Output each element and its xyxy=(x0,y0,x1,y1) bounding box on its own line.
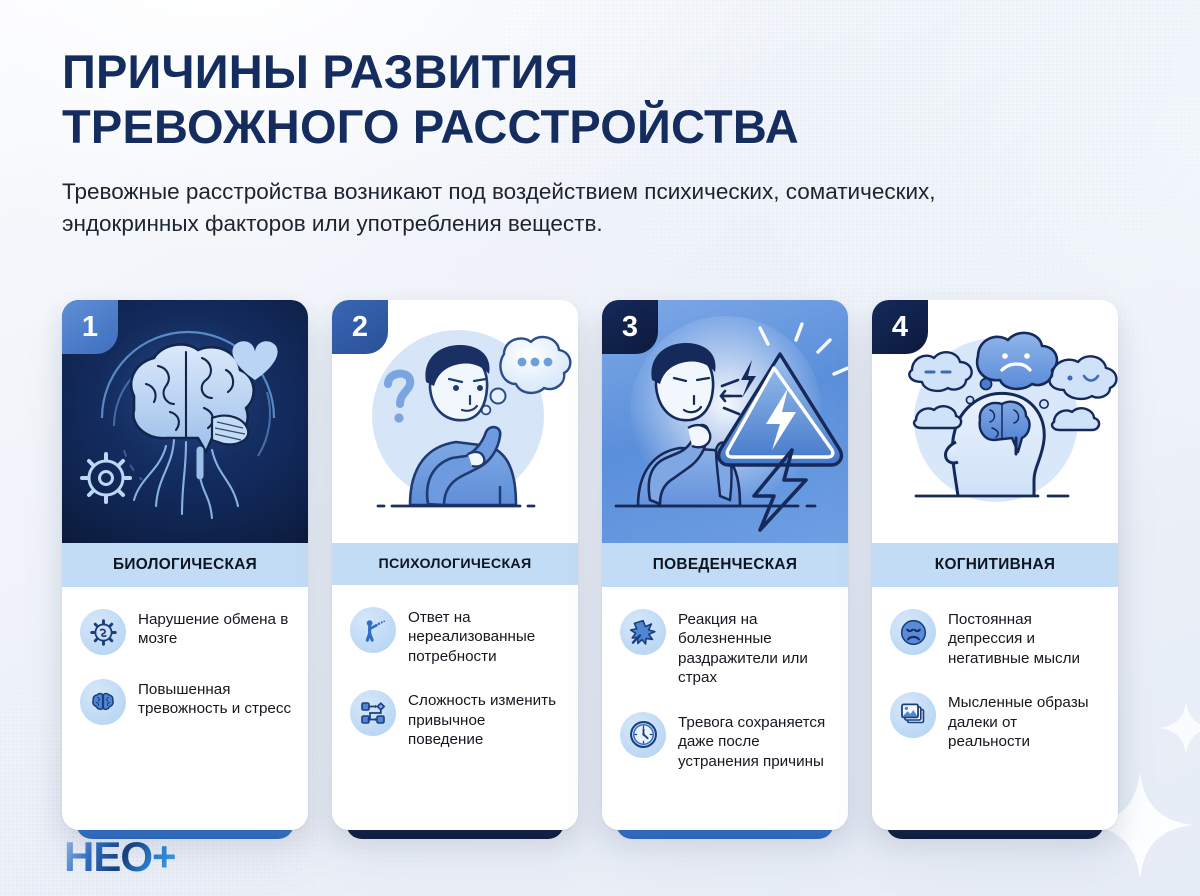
list-item: Тревога сохраняется даже после устранени… xyxy=(620,712,832,771)
gear-icon xyxy=(82,454,130,502)
card-illustration-cognitive: 4 xyxy=(872,300,1118,543)
list-item-label: Реакция на болезненные раздражители или … xyxy=(678,609,832,688)
list-item: Мысленные образы далеки от реальности xyxy=(890,692,1102,751)
poster-header: ПРИЧИНЫ РАЗВИТИЯ ТРЕВОЖНОГО РАССТРОЙСТВА… xyxy=(62,44,1062,240)
card-label: ПСИХОЛОГИЧЕСКАЯ xyxy=(332,543,578,585)
card-number-badge: 3 xyxy=(602,300,658,354)
card-illustration-biological: 1 xyxy=(62,300,308,543)
card-1: 1 БИОЛОГИЧЕСКАЯ xyxy=(62,300,308,830)
cards-row: 1 БИОЛОГИЧЕСКАЯ xyxy=(62,300,1142,830)
flowchart-icon xyxy=(350,690,396,736)
card-bullets: Нарушение обмена в мозге xyxy=(62,587,308,830)
sad-face-icon xyxy=(890,609,936,655)
card-number-badge: 2 xyxy=(332,300,388,354)
list-item: Сложность изменить привычное поведение xyxy=(350,690,562,749)
title-line-2: ТРЕВОЖНОГО РАССТРОЙСТВА xyxy=(62,99,1062,154)
list-item-label: Нарушение обмена в мозге xyxy=(138,609,292,649)
list-item-label: Тревога сохраняется даже после устранени… xyxy=(678,712,832,771)
card-bullets: Ответ на нереализованные потребности xyxy=(332,585,578,830)
thought-cloud-small-left xyxy=(914,406,961,428)
list-item-label: Ответ на нереализованные потребности xyxy=(408,607,562,666)
gear-brain-icon xyxy=(80,609,126,655)
card-label: БИОЛОГИЧЕСКАЯ xyxy=(62,543,308,587)
photos-icon xyxy=(890,692,936,738)
infographic-poster: ПРИЧИНЫ РАЗВИТИЯ ТРЕВОЖНОГО РАССТРОЙСТВА… xyxy=(0,0,1200,896)
brain-icon xyxy=(80,679,126,725)
list-item: Ответ на нереализованные потребности xyxy=(350,607,562,666)
card-2: 2 ПСИХОЛОГИЧЕСКАЯ xyxy=(332,300,578,830)
card-3: 3 ПОВЕДЕНЧЕСКАЯ Реакция на болезненные р… xyxy=(602,300,848,830)
list-item-label: Сложность изменить привычное поведение xyxy=(408,690,562,749)
list-item-label: Мысленные образы далеки от реальности xyxy=(948,692,1102,751)
sparkle-decoration-small xyxy=(1158,700,1200,756)
page-title: ПРИЧИНЫ РАЗВИТИЯ ТРЕВОЖНОГО РАССТРОЙСТВА xyxy=(62,44,1062,155)
person-reaching-icon xyxy=(350,607,396,653)
list-item: Постоянная депрессия и негативные мысли xyxy=(890,609,1102,668)
page-subtitle: Тревожные расстройства возникают под воз… xyxy=(62,176,1012,240)
card-illustration-behavioral: 3 xyxy=(602,300,848,543)
card-number-badge: 4 xyxy=(872,300,928,354)
card-bullets: Реакция на болезненные раздражители или … xyxy=(602,587,848,830)
list-item: Повышенная тревожность и стресс xyxy=(80,679,292,725)
card-bullets: Постоянная депрессия и негативные мысли xyxy=(872,587,1118,830)
card-4: 4 КОГНИТИВНАЯ xyxy=(872,300,1118,830)
clock-icon xyxy=(620,712,666,758)
card-label: КОГНИТИВНАЯ xyxy=(872,543,1118,587)
title-line-1: ПРИЧИНЫ РАЗВИТИЯ xyxy=(62,45,579,98)
thought-cloud-small-right xyxy=(1052,408,1099,430)
card-illustration-psychological: 2 xyxy=(332,300,578,543)
card-number-badge: 1 xyxy=(62,300,118,354)
card-label: ПОВЕДЕНЧЕСКАЯ xyxy=(602,543,848,587)
list-item: Нарушение обмена в мозге xyxy=(80,609,292,655)
list-item: Реакция на болезненные раздражители или … xyxy=(620,609,832,688)
burst-spark-icon xyxy=(620,609,666,655)
brand-logo: НЕО+ xyxy=(64,836,176,878)
list-item-label: Повышенная тревожность и стресс xyxy=(138,679,292,719)
list-item-label: Постоянная депрессия и негативные мысли xyxy=(948,609,1102,668)
